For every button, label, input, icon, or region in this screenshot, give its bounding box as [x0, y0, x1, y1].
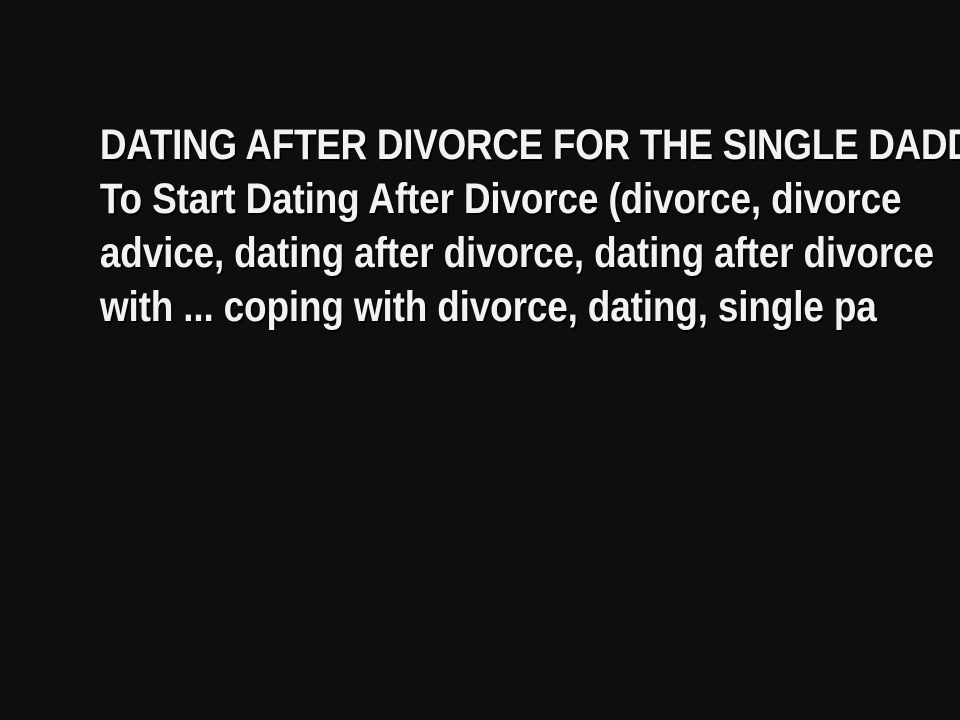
title-line-2: To Start Dating After Divorce (divorce, …	[100, 172, 860, 226]
title-line-1: DATING AFTER DIVORCE FOR THE SINGLE DADD…	[100, 118, 860, 172]
title-line-3: advice, dating after divorce, dating aft…	[100, 226, 860, 280]
video-thumbnail-card: DATING AFTER DIVORCE FOR THE SINGLE DADD…	[0, 0, 960, 720]
title-block: DATING AFTER DIVORCE FOR THE SINGLE DADD…	[0, 118, 960, 334]
title-line-4: with ... coping with divorce, dating, si…	[100, 280, 860, 334]
